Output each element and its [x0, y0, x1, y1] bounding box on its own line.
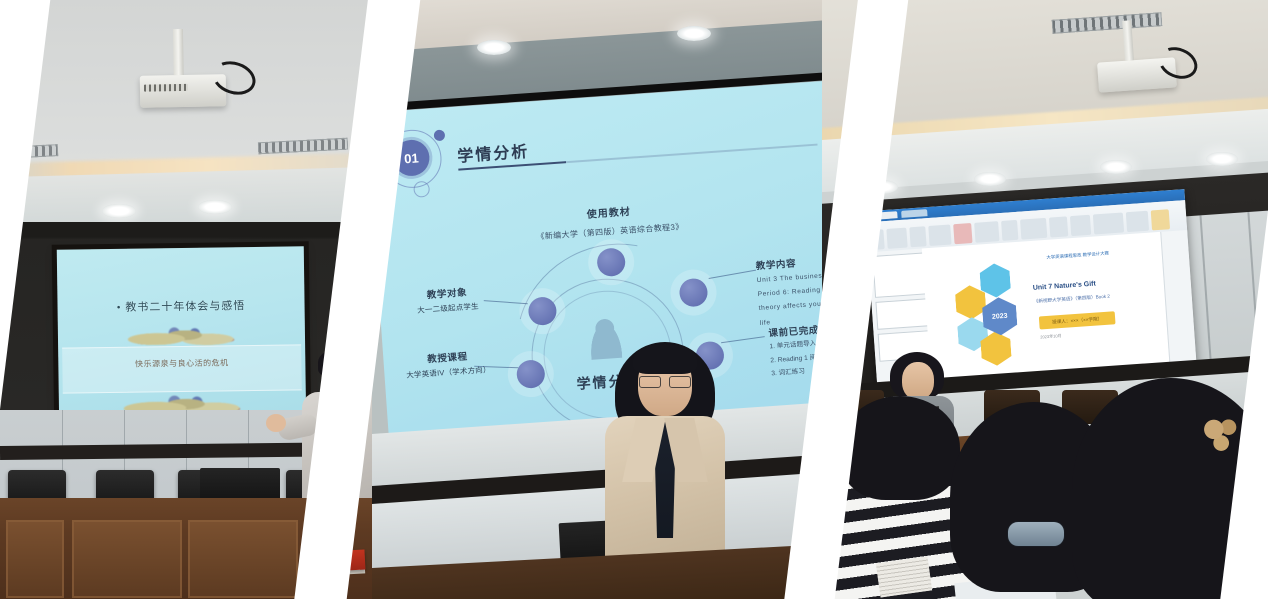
downlight-icon — [477, 40, 511, 55]
downlight-icon — [1206, 152, 1238, 166]
ppt-slide-subtitle: 《新视野大学英语》（第四版）Book 2 — [1034, 291, 1152, 305]
desk-panel — [188, 520, 298, 598]
desk-panel — [72, 520, 182, 598]
ppt-slide-eyebrow: 大学英语课程思政 教学设计大赛 — [1033, 249, 1123, 262]
slide-heading: 学情分析 — [456, 138, 530, 167]
ppt-slide-thumbnail[interactable] — [875, 298, 931, 330]
left-slide-title: • 教书二十年体会与感悟 — [57, 296, 304, 315]
ppt-slide-footer: 2023年10月 — [1040, 333, 1062, 340]
collage-bottom-edge — [0, 599, 1268, 615]
center-photo-inner: 01 学情分析 使用教材 《新编大学（第四版）英语综合教程3》 学情分析 — [372, 0, 822, 615]
downlight-icon — [198, 200, 232, 214]
downlight-icon — [974, 172, 1006, 186]
desk-panel — [6, 520, 64, 598]
left-projection-screen: • 教书二十年体会与感悟 快乐源泉与良心活的危机 — [57, 246, 306, 429]
hexagon-cluster-icon: 2023 — [953, 259, 1038, 362]
diagram-label-taught-course: 教授课程 大学英语IV（学术方向） — [393, 346, 503, 381]
slide-badge-dot-icon — [434, 130, 446, 142]
handout-paper — [876, 557, 932, 598]
downlight-icon — [102, 204, 136, 218]
leader-line — [709, 270, 756, 280]
glasses-icon — [639, 376, 691, 386]
ppt-slide-button: 授课人：×××（××学院） — [1039, 311, 1116, 329]
diagram-label-teaching-audience: 教学对象 大一二级起点学生 — [401, 283, 495, 317]
downlight-icon — [677, 26, 711, 41]
diagram-label-teaching-content: 教学内容 Unit 3 The business of life Period … — [755, 249, 822, 329]
leader-line — [721, 336, 765, 343]
downlight-icon — [1100, 160, 1132, 174]
label-title: 教学内容 — [755, 249, 822, 272]
ppt-slide-title: Unit 7 Nature's Gift — [1033, 277, 1143, 292]
label-detail: 大一二级起点学生 — [402, 300, 495, 317]
center-photo-panel: 01 学情分析 使用教材 《新编大学（第四版）英语综合教程3》 学情分析 — [372, 0, 822, 615]
slide-badge-dot-icon — [413, 181, 430, 198]
ppt-slide-thumbnail[interactable] — [872, 252, 929, 298]
ppt-tab[interactable] — [901, 209, 927, 218]
collage-canvas: • 教书二十年体会与感悟 快乐源泉与良心活的危机 — [0, 0, 1268, 615]
